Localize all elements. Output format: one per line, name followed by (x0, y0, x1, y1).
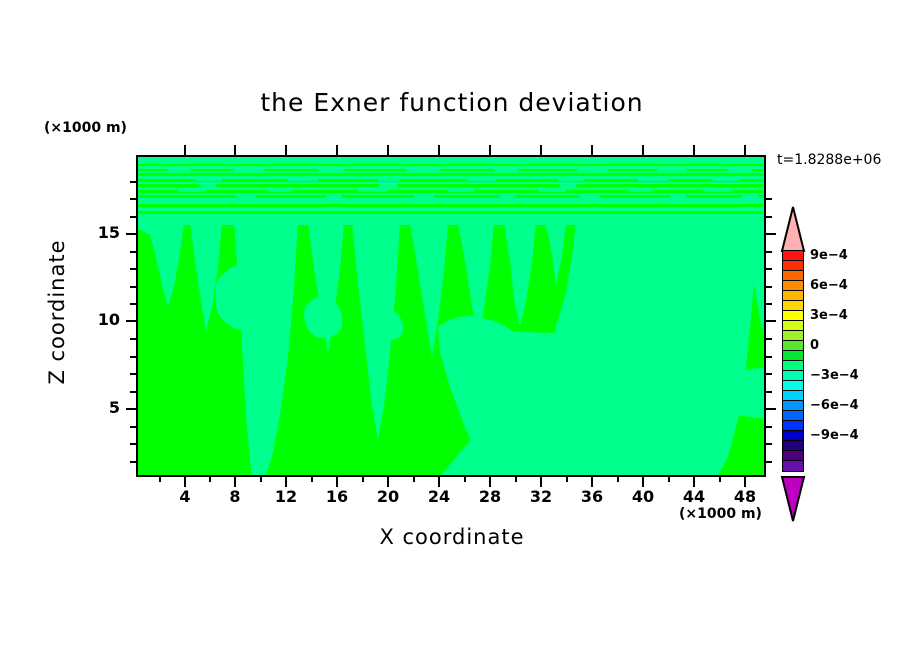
x-tick-label: 12 (266, 487, 306, 506)
colorbar-tick-label: 3e−4 (810, 308, 848, 323)
x-tick-minor (515, 477, 517, 482)
x-tick-major (387, 477, 389, 487)
x-tick-major (540, 477, 542, 487)
x-tick-major (438, 477, 440, 487)
y-tick-minor (130, 461, 136, 463)
y-tick-right (766, 391, 772, 393)
colorbar-tick-label: 9e−4 (810, 248, 848, 263)
y-axis-unit-label: (×1000 m) (44, 120, 127, 136)
colorbar-segments (782, 250, 804, 478)
x-tick-label: 4 (165, 487, 205, 506)
x-tick-top (387, 145, 389, 155)
plot-frame (136, 155, 766, 477)
y-tick-minor (130, 373, 136, 375)
x-tick-minor (260, 477, 262, 482)
x-tick-major (234, 477, 236, 487)
y-tick-minor (130, 303, 136, 305)
y-tick-minor (130, 216, 136, 218)
x-tick-minor (668, 477, 670, 482)
x-tick-minor (159, 477, 161, 482)
x-tick-major (336, 477, 338, 487)
x-tick-top (744, 145, 746, 155)
y-tick-minor (130, 286, 136, 288)
x-axis-title: X coordinate (0, 525, 904, 549)
x-tick-major (642, 477, 644, 487)
y-tick-right (766, 303, 772, 305)
y-tick-minor (130, 426, 136, 428)
x-tick-major (285, 477, 287, 487)
x-tick-major (591, 477, 593, 487)
colorbar-cap-top (778, 206, 808, 252)
x-tick-top (693, 145, 695, 155)
y-tick-right (766, 268, 772, 270)
x-tick-top (591, 145, 593, 155)
x-tick-major (693, 477, 695, 487)
y-tick-right (766, 408, 776, 410)
x-tick-label: 24 (419, 487, 459, 506)
x-tick-top (489, 145, 491, 155)
x-tick-minor (209, 477, 211, 482)
x-tick-label: 32 (521, 487, 561, 506)
y-tick-right (766, 286, 772, 288)
y-tick-minor (130, 391, 136, 393)
contour-field (138, 157, 766, 477)
x-tick-minor (413, 477, 415, 482)
x-tick-label: 8 (215, 487, 255, 506)
y-tick-major (126, 233, 136, 235)
x-tick-top (642, 145, 644, 155)
x-tick-label: 20 (368, 487, 408, 506)
y-tick-label: 15 (78, 223, 120, 242)
x-tick-top (184, 145, 186, 155)
y-tick-right (766, 356, 772, 358)
y-tick-right (766, 338, 772, 340)
figure-root: the Exner function deviation (×1000 m) (… (0, 0, 904, 654)
x-tick-top (336, 145, 338, 155)
colorbar-tick-label: −3e−4 (810, 368, 859, 383)
x-tick-top (285, 145, 287, 155)
x-tick-major (489, 477, 491, 487)
y-tick-minor (130, 251, 136, 253)
y-tick-minor (130, 356, 136, 358)
x-tick-label: 16 (317, 487, 357, 506)
x-tick-minor (311, 477, 313, 482)
colorbar-tick-label: −9e−4 (810, 428, 859, 443)
colorbar: 9e−4 6e−4 3e−4 0 −3e−4 −6e−4 −9e−4 (778, 206, 808, 524)
x-tick-label: 44 (674, 487, 714, 506)
colorbar-segment (782, 460, 804, 472)
colorbar-tick-label: −6e−4 (810, 398, 859, 413)
y-tick-minor (130, 443, 136, 445)
y-tick-right (766, 320, 776, 322)
x-tick-major (184, 477, 186, 487)
y-tick-minor (130, 181, 136, 183)
y-tick-right (766, 443, 772, 445)
y-tick-minor (130, 198, 136, 200)
x-tick-label: 48 (725, 487, 765, 506)
y-tick-right (766, 373, 772, 375)
colorbar-tick-label: 0 (810, 338, 819, 353)
y-tick-right (766, 216, 772, 218)
x-tick-minor (617, 477, 619, 482)
x-tick-major (744, 477, 746, 487)
y-tick-right (766, 233, 776, 235)
x-axis-unit-label: (×1000 m) (679, 506, 762, 522)
plot-area: 4 8 12 16 20 24 28 32 36 40 44 48 (136, 155, 766, 477)
y-tick-major (126, 408, 136, 410)
x-tick-label: 28 (470, 487, 510, 506)
y-tick-right (766, 426, 772, 428)
y-tick-minor (130, 268, 136, 270)
x-tick-minor (566, 477, 568, 482)
y-tick-minor (130, 338, 136, 340)
x-tick-top (540, 145, 542, 155)
colorbar-tick-label: 6e−4 (810, 278, 848, 293)
page-title: the Exner function deviation (0, 88, 904, 117)
x-tick-minor (719, 477, 721, 482)
y-tick-major (126, 320, 136, 322)
colorbar-cap-bottom (778, 476, 808, 522)
y-tick-label: 10 (78, 310, 120, 329)
x-tick-minor (362, 477, 364, 482)
x-tick-label: 36 (572, 487, 612, 506)
y-tick-right (766, 251, 772, 253)
x-tick-label: 40 (623, 487, 663, 506)
y-axis-title: Z coordinate (45, 212, 69, 412)
x-tick-minor (464, 477, 466, 482)
y-tick-label: 5 (78, 398, 120, 417)
x-tick-top (438, 145, 440, 155)
x-tick-top (234, 145, 236, 155)
timestamp-label: t=1.8288e+06 (777, 152, 881, 168)
y-tick-right (766, 461, 772, 463)
y-tick-right (766, 198, 772, 200)
